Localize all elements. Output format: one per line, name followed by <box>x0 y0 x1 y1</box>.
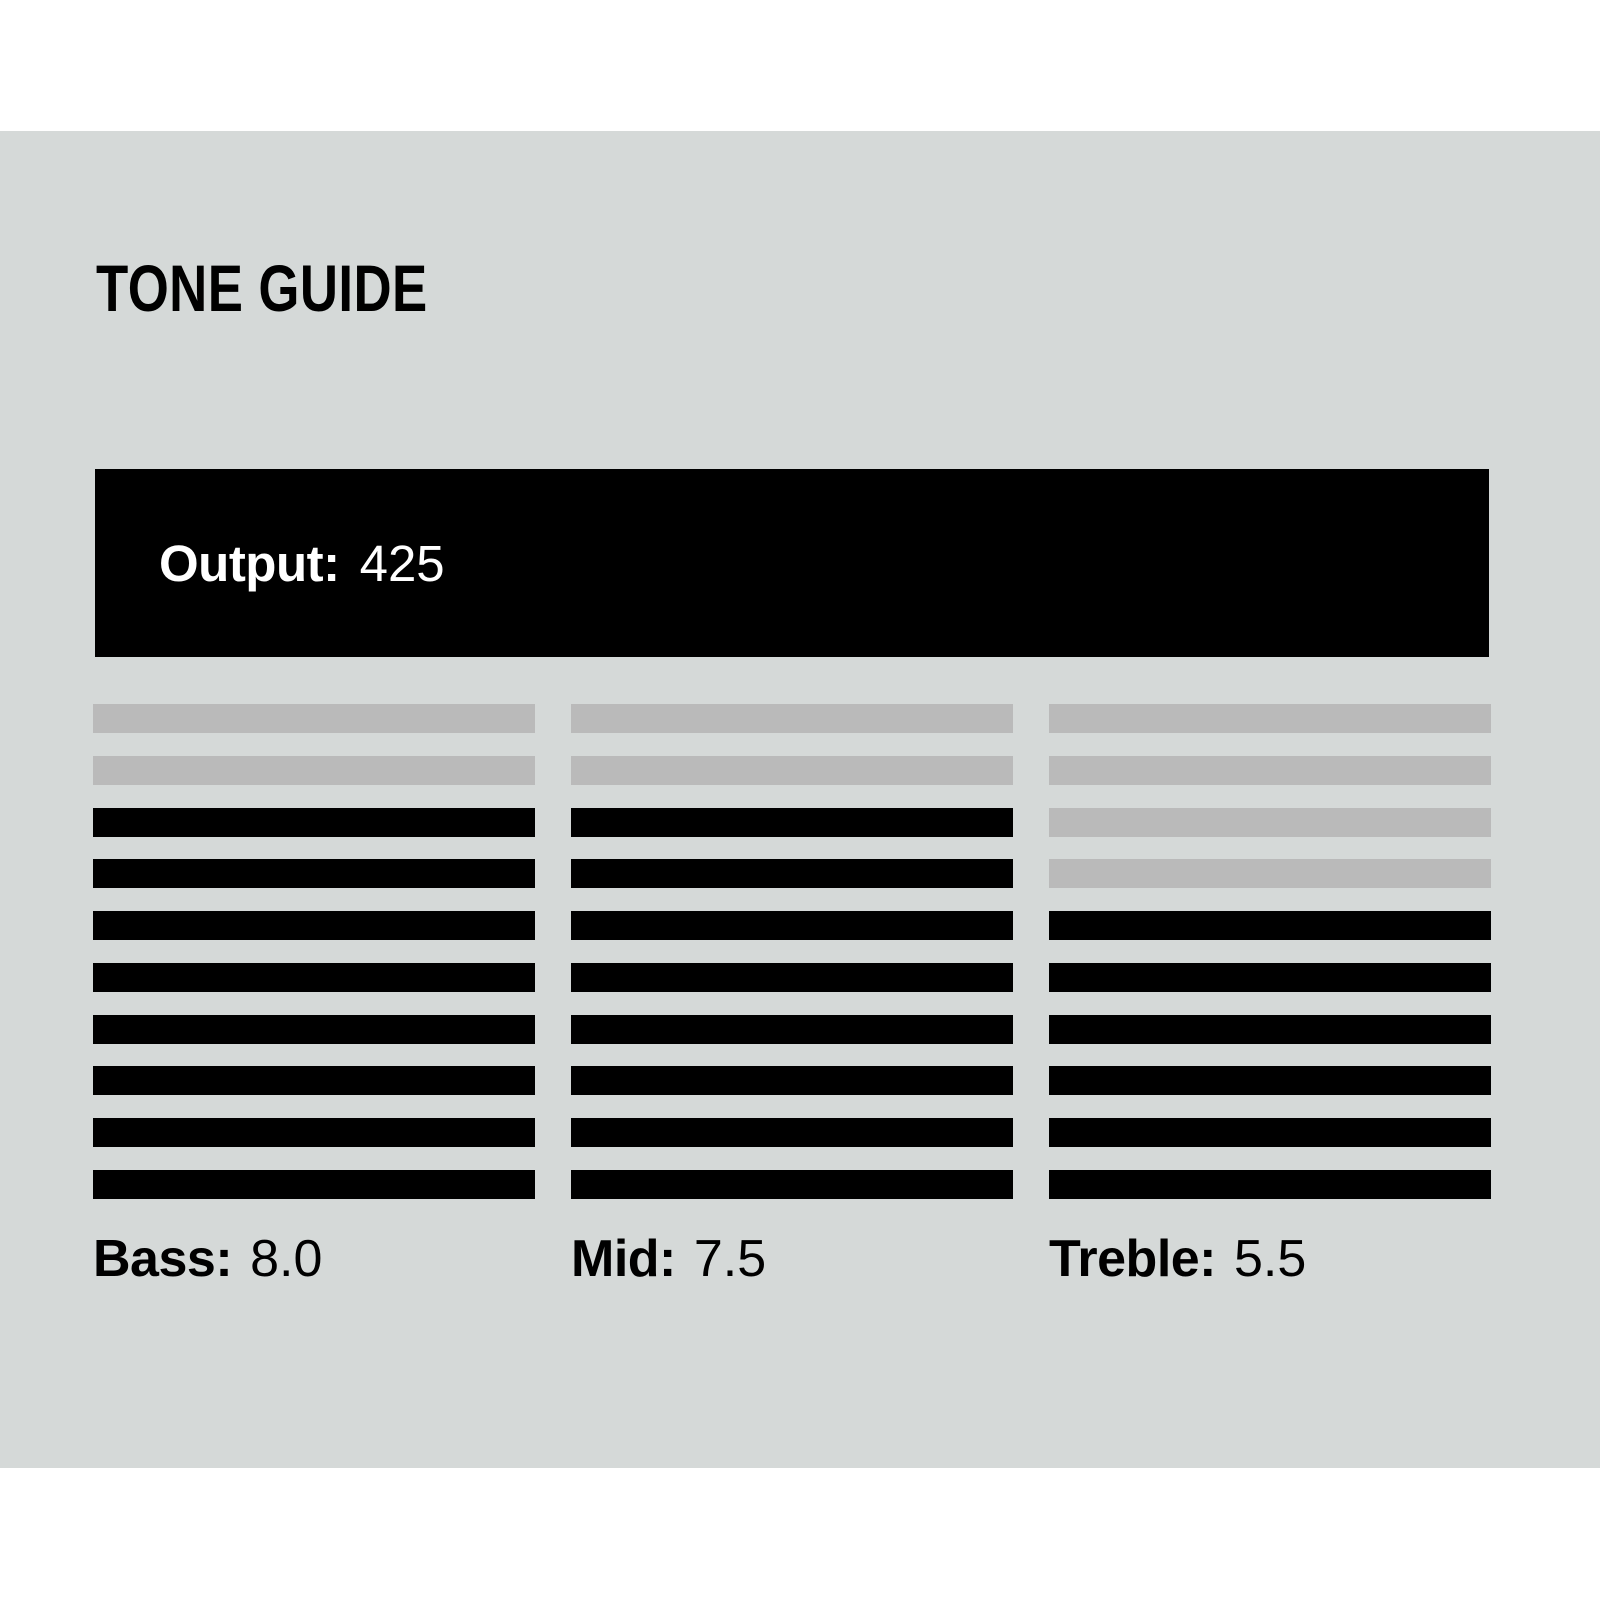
meter-segment <box>571 1118 1013 1147</box>
meter-segment <box>571 1015 1013 1044</box>
meter-label-bass: Bass:8.0 <box>93 1229 535 1289</box>
meter-segment <box>1049 1066 1491 1095</box>
output-value: 425 <box>360 534 445 593</box>
meter-segment <box>571 963 1013 992</box>
meter-segment <box>93 808 535 837</box>
meter-segment <box>93 911 535 940</box>
meter-segment <box>1049 963 1491 992</box>
tone-guide-card: TONE GUIDE Output: 425 Bass:8.0Mid:7.5Tr… <box>0 131 1600 1468</box>
meter-segment <box>1049 1118 1491 1147</box>
meter-segment <box>571 911 1013 940</box>
meter-label-group: Bass:8.0Mid:7.5Treble:5.5 <box>93 1229 1491 1289</box>
output-banner-content: Output: 425 <box>95 534 445 593</box>
meter-segment <box>571 704 1013 733</box>
meter-segment <box>1049 808 1491 837</box>
meter-group <box>93 704 1491 1199</box>
meter-segment <box>1049 1015 1491 1044</box>
output-banner: Output: 425 <box>95 469 1489 657</box>
meter-label-value: 7.5 <box>694 1229 766 1289</box>
output-label: Output: <box>159 534 340 593</box>
meter-segment <box>571 808 1013 837</box>
meter-label-name: Bass: <box>93 1229 232 1289</box>
meter-segment <box>93 1118 535 1147</box>
meter-column-bass[interactable] <box>93 704 535 1199</box>
meter-label-name: Mid: <box>571 1229 676 1289</box>
meter-segment <box>571 859 1013 888</box>
meter-segment <box>93 859 535 888</box>
meter-segment <box>93 704 535 733</box>
meter-segment <box>93 1066 535 1095</box>
meter-segment <box>93 1170 535 1199</box>
meter-segment <box>1049 911 1491 940</box>
meter-segment <box>1049 1170 1491 1199</box>
meter-label-name: Treble: <box>1049 1229 1216 1289</box>
meter-segment <box>571 1066 1013 1095</box>
meter-label-mid: Mid:7.5 <box>571 1229 1013 1289</box>
meter-segment <box>93 1015 535 1044</box>
meter-label-value: 8.0 <box>250 1229 322 1289</box>
page-title: TONE GUIDE <box>96 255 428 321</box>
meter-segment <box>571 756 1013 785</box>
meter-segment <box>571 1170 1013 1199</box>
meter-label-treble: Treble:5.5 <box>1049 1229 1491 1289</box>
meter-column-treble[interactable] <box>1049 704 1491 1199</box>
meter-segment <box>93 963 535 992</box>
meter-column-mid[interactable] <box>571 704 1013 1199</box>
meter-label-value: 5.5 <box>1234 1229 1306 1289</box>
meter-segment <box>1049 859 1491 888</box>
meter-segment <box>93 756 535 785</box>
meter-segment <box>1049 704 1491 733</box>
meter-segment <box>1049 756 1491 785</box>
